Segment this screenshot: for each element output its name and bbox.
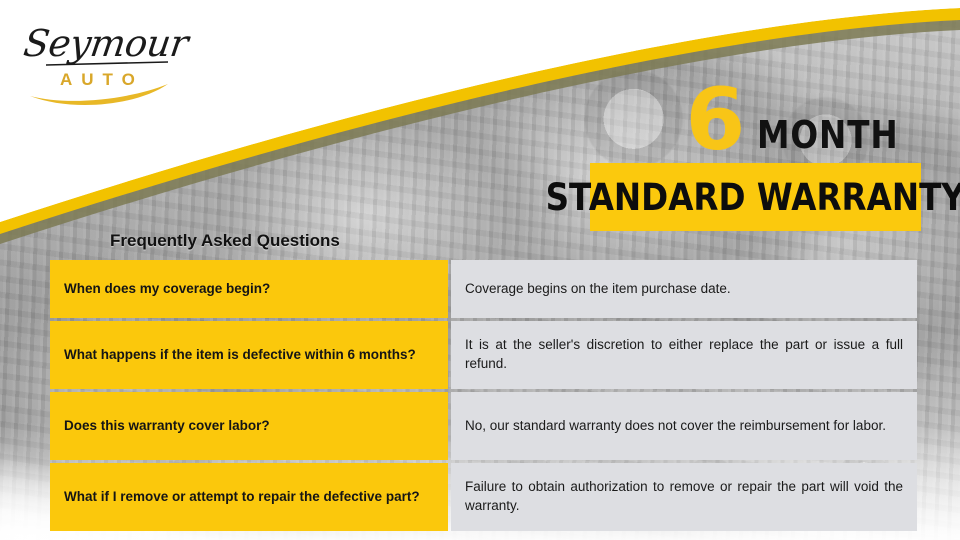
faq-table: When does my coverage begin? Coverage be…	[47, 257, 920, 534]
table-row: What if I remove or attempt to repair th…	[50, 463, 917, 531]
warranty-duration: 6 MONTH	[600, 58, 930, 158]
faq-answer: It is at the seller's discretion to eith…	[451, 321, 917, 389]
faq-question: What happens if the item is defective wi…	[50, 321, 448, 389]
logo-wordmark: Seymour	[21, 22, 191, 65]
seymour-auto-logo: Seymour AUTO	[18, 18, 188, 110]
duration-number: 6	[686, 84, 744, 158]
logo-subtitle: AUTO	[60, 70, 144, 90]
warranty-slide: Seymour AUTO 6 MONTH STANDARD WARRANTY F…	[0, 0, 960, 540]
faq-question: What if I remove or attempt to repair th…	[50, 463, 448, 531]
standard-warranty-label: STANDARD WARRANTY	[546, 176, 960, 219]
table-row: What happens if the item is defective wi…	[50, 321, 917, 389]
faq-question: Does this warranty cover labor?	[50, 392, 448, 460]
standard-warranty-banner: STANDARD WARRANTY	[590, 163, 921, 231]
faq-heading: Frequently Asked Questions	[110, 231, 340, 251]
faq-answer: No, our standard warranty does not cover…	[451, 392, 917, 460]
faq-answer: Failure to obtain authorization to remov…	[451, 463, 917, 531]
faq-question: When does my coverage begin?	[50, 260, 448, 318]
table-row: Does this warranty cover labor? No, our …	[50, 392, 917, 460]
faq-answer: Coverage begins on the item purchase dat…	[451, 260, 917, 318]
duration-unit: MONTH	[757, 116, 905, 154]
table-row: When does my coverage begin? Coverage be…	[50, 260, 917, 318]
